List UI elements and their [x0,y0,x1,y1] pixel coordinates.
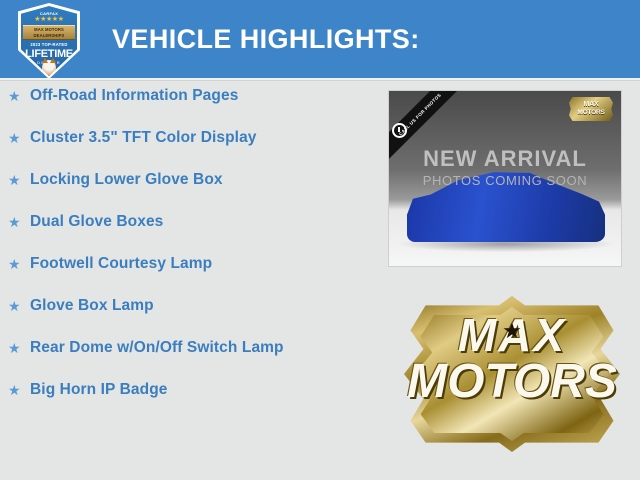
header-divider [0,78,640,81]
list-item: ★ Locking Lower Glove Box [0,170,372,190]
list-item: ★ Off-Road Information Pages [0,86,372,106]
list-item: ★ Footwell Courtesy Lamp [0,254,372,274]
page-title: VEHICLE HIGHLIGHTS: [112,24,420,55]
list-item: ★ Rear Dome w/On/Off Switch Lamp [0,338,372,358]
highlight-label: Off-Road Information Pages [30,86,238,106]
star-bullet-icon: ★ [8,380,30,400]
watermark-line2: MOTORS [577,109,604,117]
photo-overlay-title: NEW ARRIVAL [389,146,621,172]
star-bullet-icon: ★ [8,86,30,106]
star-bullet-icon: ★ [8,254,30,274]
star-bullet-icon: ★ [8,128,30,148]
max-motors-logo: MAX ★ MOTORS [404,296,620,452]
header-bar: CARFAX ★★★★★ MAX MOTORS DEALERSHIPS 2023… [0,0,640,78]
list-item: ★ Cluster 3.5" TFT Color Display [0,128,372,148]
highlight-label: Cluster 3.5" TFT Color Display [30,128,257,148]
badge-shield-body: CARFAX ★★★★★ MAX MOTORS DEALERSHIPS 2023… [21,6,77,76]
badge-year-label: 2023 TOP-RATED [21,42,77,47]
highlight-label: Rear Dome w/On/Off Switch Lamp [30,338,284,358]
logo-line2: MOTORS [404,358,620,406]
carfax-lifetime-dealer-badge-icon: CARFAX ★★★★★ MAX MOTORS DEALERSHIPS 2023… [18,3,80,79]
star-bullet-icon: ★ [8,170,30,190]
star-bullet-icon: ★ [8,338,30,358]
watermark-line1: MAX [584,101,599,109]
star-bullet-icon: ★ [8,296,30,316]
vehicle-photo-placeholder[interactable]: NEW ARRIVAL PHOTOS COMING SOON CALL US F… [388,90,622,267]
badge-ribbon-line2: DEALERSHIPS [23,33,75,39]
logo-star-icon: ★ [502,320,522,342]
highlight-label: Locking Lower Glove Box [30,170,223,190]
highlight-label: Big Horn IP Badge [30,380,167,400]
badge-stars-icon: ★★★★★ [21,16,77,23]
highlight-label: Dual Glove Boxes [30,212,163,232]
badge-ribbon: MAX MOTORS DEALERSHIPS [23,25,75,40]
camera-clock-icon [392,123,407,138]
list-item: ★ Dual Glove Boxes [0,212,372,232]
vehicle-highlights-list: ★ Off-Road Information Pages ★ Cluster 3… [0,86,372,422]
list-item: ★ Big Horn IP Badge [0,380,372,400]
list-item: ★ Glove Box Lamp [0,296,372,316]
star-bullet-icon: ★ [8,212,30,232]
photo-overlay-subtitle: PHOTOS COMING SOON [389,173,621,188]
max-motors-watermark-icon: MAX MOTORS [569,97,613,121]
highlight-label: Footwell Courtesy Lamp [30,254,212,274]
highlight-label: Glove Box Lamp [30,296,154,316]
